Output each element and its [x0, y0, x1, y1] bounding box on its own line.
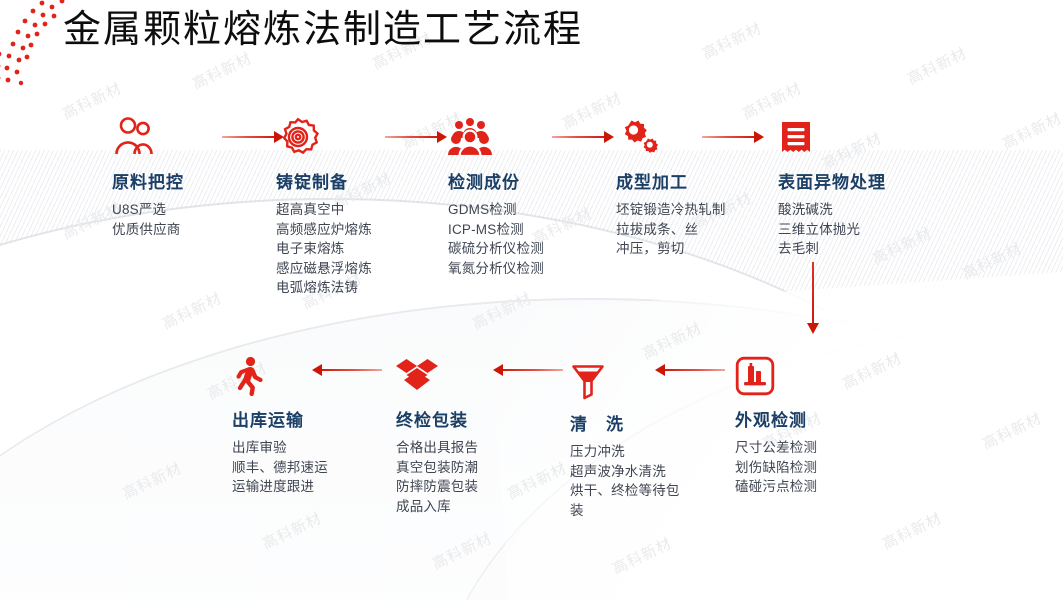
step-title: 成型加工: [616, 168, 791, 193]
step-line: 冲压，剪切: [616, 239, 791, 259]
step-title: 终检包装: [396, 406, 571, 431]
watermark-text: 高科新材: [119, 457, 186, 504]
step-line: 装: [570, 501, 745, 521]
step-line: 碳硫分析仪检测: [448, 239, 623, 259]
step-line: 超声波净水清洗: [570, 462, 745, 482]
step-title: 清 洗: [570, 410, 745, 435]
step-line: 酸洗碱洗: [778, 200, 953, 220]
step-appearance-inspection[interactable]: 外观检测 尺寸公差检测 划伤缺陷检测 磕碰污点检测: [735, 350, 910, 497]
arrow-3-4: [552, 131, 614, 143]
step-line: U8S严选: [112, 200, 287, 220]
step-line: 顺丰、德邦速运: [232, 458, 407, 478]
step-line: 尺寸公差检测: [735, 438, 910, 458]
step-lines: GDMS检测 ICP-MS检测 碳硫分析仪检测 氧氮分析仪检测: [448, 200, 623, 278]
product-inspect-icon: [735, 350, 910, 396]
step-line: 运输进度跟进: [232, 477, 407, 497]
arrow-5-6: [807, 262, 819, 334]
step-line: 三维立体抛光: [778, 220, 953, 240]
watermark-text: 高科新材: [159, 287, 226, 334]
arrow-4-5: [702, 131, 764, 143]
page-title: 金属颗粒熔炼法制造工艺流程: [63, 6, 583, 54]
step-line: 拉拔成条、丝: [616, 220, 791, 240]
step-line: 优质供应商: [112, 220, 287, 240]
step-line: 防摔防震包装: [396, 477, 571, 497]
watermark-text: 高科新材: [904, 42, 971, 89]
arrow-2-3: [385, 131, 447, 143]
step-line: 电弧熔炼法铸: [276, 278, 451, 298]
step-line: 成品入库: [396, 497, 571, 517]
step-line: 感应磁悬浮熔炼: [276, 259, 451, 279]
step-surface-treatment[interactable]: 表面异物处理 酸洗碱洗 三维立体抛光 去毛刺: [778, 112, 953, 259]
step-title: 原料把控: [112, 168, 287, 193]
step-lines: 坯锭锻造冷热轧制 拉拔成条、丝 冲压，剪切: [616, 200, 791, 259]
watermark-text: 高科新材: [469, 287, 536, 334]
funnel-icon: [570, 354, 745, 400]
step-line: 坯锭锻造冷热轧制: [616, 200, 791, 220]
watermark-text: 高科新材: [429, 527, 496, 574]
watermark-text: 高科新材: [259, 507, 326, 554]
document-lines-icon: [778, 112, 953, 158]
walking-person-icon: [232, 350, 407, 396]
watermark-text: 高科新材: [609, 532, 676, 579]
step-cleaning[interactable]: 清 洗 压力冲洗 超声波净水清洗 烘干、终检等待包 装: [570, 354, 745, 520]
step-line: 高频感应炉熔炼: [276, 220, 451, 240]
step-line: 电子束熔炼: [276, 239, 451, 259]
step-lines: 酸洗碱洗 三维立体抛光 去毛刺: [778, 200, 953, 259]
step-line: GDMS检测: [448, 200, 623, 220]
step-line: 划伤缺陷检测: [735, 458, 910, 478]
watermark-text: 高科新材: [189, 47, 256, 94]
step-title: 铸锭制备: [276, 168, 451, 193]
step-outbound-transport[interactable]: 出库运输 出库审验 顺丰、德邦速运 运输进度跟进: [232, 350, 407, 497]
step-line: 烘干、终检等待包: [570, 481, 745, 501]
step-line: 超高真空中: [276, 200, 451, 220]
watermark-text: 高科新材: [979, 407, 1046, 454]
step-line: 出库审验: [232, 438, 407, 458]
step-lines: 尺寸公差检测 划伤缺陷检测 磕碰污点检测: [735, 438, 910, 497]
step-lines: 压力冲洗 超声波净水清洗 烘干、终检等待包 装: [570, 442, 745, 520]
watermark-text: 高科新材: [999, 107, 1063, 154]
step-final-inspection-packaging[interactable]: 终检包装 合格出具报告 真空包装防潮 防摔防震包装 成品入库: [396, 350, 571, 516]
step-line: 压力冲洗: [570, 442, 745, 462]
arrow-1-2: [222, 131, 284, 143]
step-title: 表面异物处理: [778, 168, 953, 193]
step-lines: 超高真空中 高频感应炉熔炼 电子束熔炼 感应磁悬浮熔炼 电弧熔炼法铸: [276, 200, 451, 298]
step-title: 出库运输: [232, 406, 407, 431]
step-line: 真空包装防潮: [396, 458, 571, 478]
step-title: 外观检测: [735, 406, 910, 431]
watermark-text: 高科新材: [959, 237, 1026, 284]
step-title: 检测成份: [448, 168, 623, 193]
step-line: 合格出具报告: [396, 438, 571, 458]
step-line: 磕碰污点检测: [735, 477, 910, 497]
open-box-icon: [396, 350, 571, 396]
watermark-text: 高科新材: [879, 507, 946, 554]
step-line: 去毛刺: [778, 239, 953, 259]
step-lines: 出库审验 顺丰、德邦速运 运输进度跟进: [232, 438, 407, 497]
watermark-text: 高科新材: [699, 17, 766, 64]
step-lines: 合格出具报告 真空包装防潮 防摔防震包装 成品入库: [396, 438, 571, 516]
step-line: 氧氮分析仪检测: [448, 259, 623, 279]
step-line: ICP-MS检测: [448, 220, 623, 240]
slide-canvas: 高科新材高科新材高科新材高科新材高科新材高科新材高科新材高科新材高科新材高科新材…: [0, 0, 1063, 600]
step-lines: U8S严选 优质供应商: [112, 200, 287, 239]
